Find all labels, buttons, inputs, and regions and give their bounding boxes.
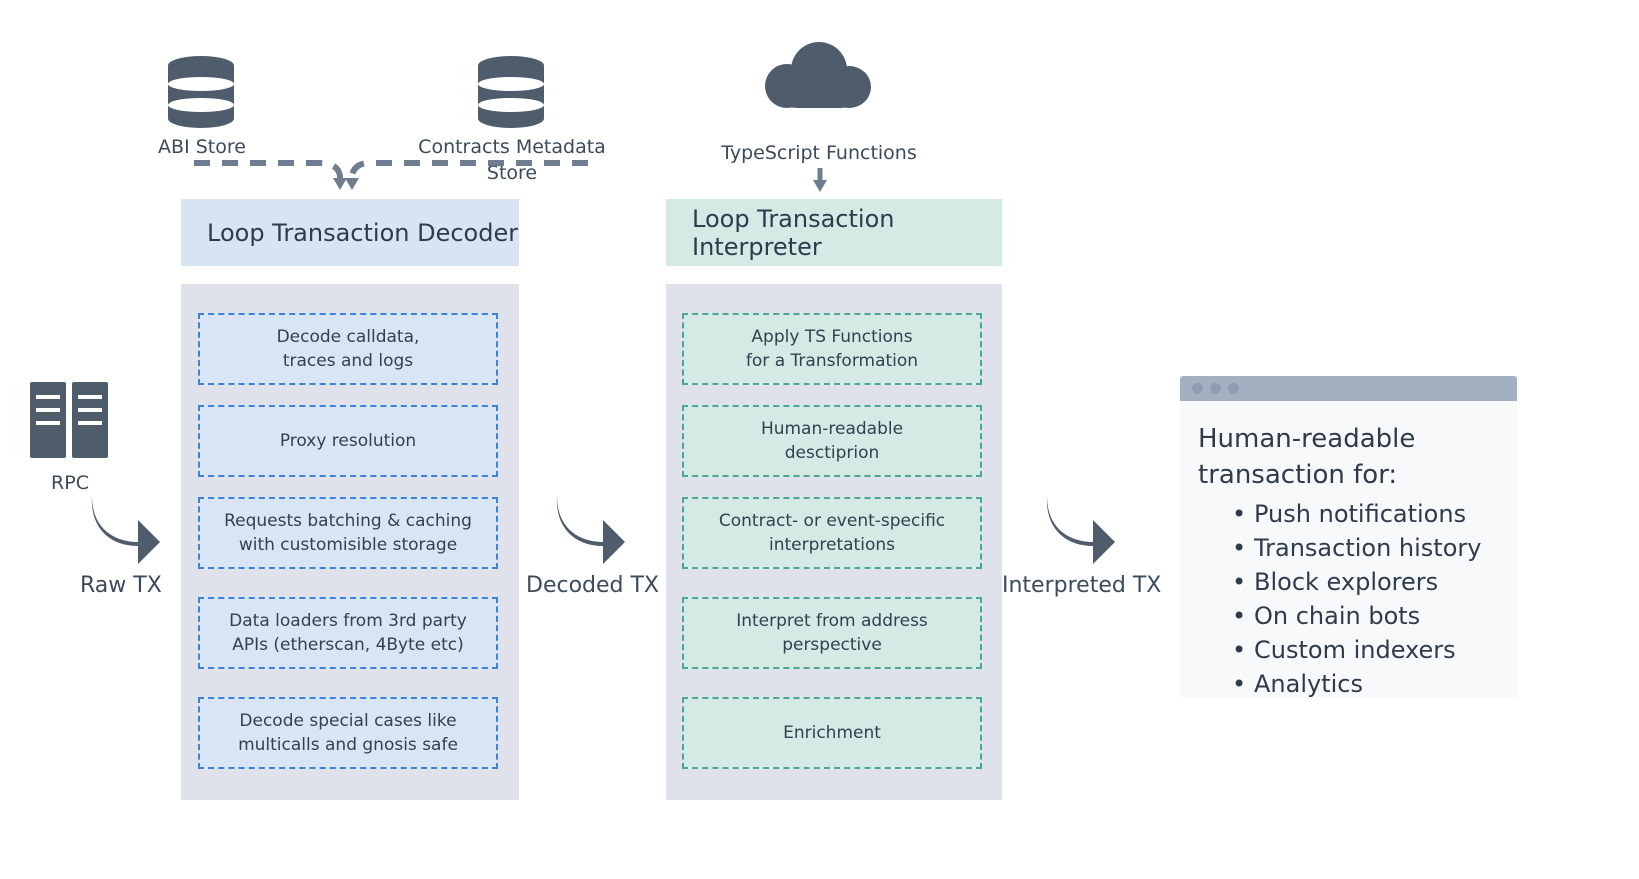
decoded-tx-arrow-icon: [551, 490, 629, 568]
list-item: Block explorers: [1230, 565, 1499, 599]
typescript-functions-cloud-icon: [765, 42, 873, 114]
interpreter-step-4[interactable]: Interpret from address perspective: [682, 597, 982, 669]
interpreter-step-5[interactable]: Enrichment: [682, 697, 982, 769]
interpreted-tx-arrow-icon: [1041, 490, 1119, 568]
window-minimize-dot-icon[interactable]: [1210, 383, 1221, 394]
interpreter-step-2[interactable]: Human-readable desctiprion: [682, 405, 982, 477]
typescript-functions-connector-arrow-icon: [808, 168, 832, 194]
window-titlebar[interactable]: [1180, 376, 1517, 401]
output-window-list: Push notifications Transaction history B…: [1230, 497, 1499, 701]
decoder-step-4[interactable]: Data loaders from 3rd party APIs (ethers…: [198, 597, 498, 669]
decoder-step-1[interactable]: Decode calldata, traces and logs: [198, 313, 498, 385]
raw-tx-arrow-icon: [86, 490, 164, 568]
list-item: Analytics: [1230, 667, 1499, 701]
list-item: Transaction history: [1230, 531, 1499, 565]
window-maximize-dot-icon[interactable]: [1228, 383, 1239, 394]
contracts-metadata-store-database-icon: [478, 56, 544, 128]
interpreted-tx-label: Interpreted TX: [1002, 573, 1161, 598]
typescript-functions-label: TypeScript Functions: [705, 140, 933, 166]
list-item: On chain bots: [1230, 599, 1499, 633]
decoded-tx-label: Decoded TX: [526, 573, 659, 598]
output-window: Human-readable transaction for: Push not…: [1180, 376, 1517, 698]
decoder-step-2[interactable]: Proxy resolution: [198, 405, 498, 477]
window-close-dot-icon[interactable]: [1192, 383, 1203, 394]
decoder-step-3[interactable]: Requests batching & caching with customi…: [198, 497, 498, 569]
abi-store-database-icon: [168, 56, 234, 128]
interpreter-step-3[interactable]: Contract- or event-specific interpretati…: [682, 497, 982, 569]
diagram-canvas: ABI Store Contracts Metadata Store TypeS…: [0, 0, 1639, 879]
list-item: Push notifications: [1230, 497, 1499, 531]
list-item: Custom indexers: [1230, 633, 1499, 667]
output-window-title: Human-readable transaction for:: [1198, 421, 1499, 493]
contracts-metadata-store-connector-arrow-icon: [342, 150, 592, 192]
rpc-server-rack-icon: [30, 382, 108, 458]
raw-tx-label: Raw TX: [80, 573, 162, 598]
decoder-header: Loop Transaction Decoder: [181, 199, 519, 266]
interpreter-step-1[interactable]: Apply TS Functions for a Transformation: [682, 313, 982, 385]
interpreter-header: Loop Transaction Interpreter: [666, 199, 1002, 266]
decoder-step-5[interactable]: Decode special cases like multicalls and…: [198, 697, 498, 769]
window-body: Human-readable transaction for: Push not…: [1180, 401, 1517, 698]
